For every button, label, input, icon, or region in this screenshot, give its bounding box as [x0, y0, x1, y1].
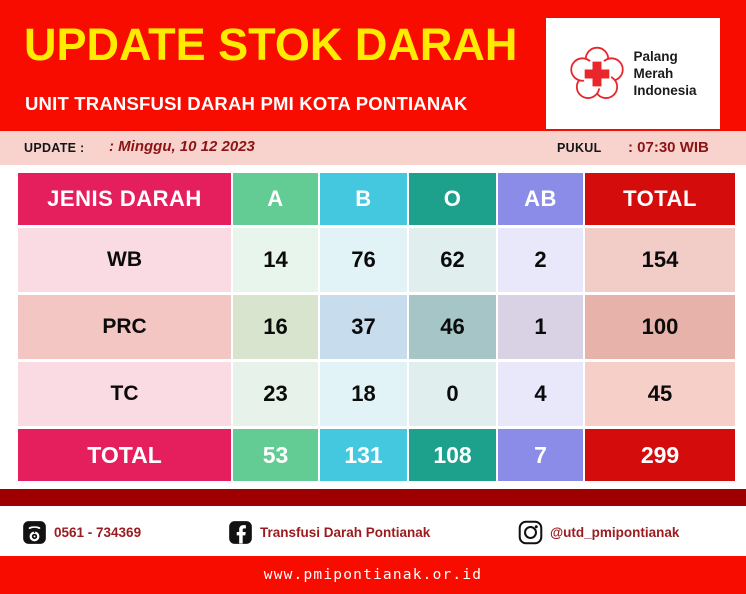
cell-prc-o: 46 — [409, 295, 496, 359]
time-value: : 07:30 WIB — [628, 139, 709, 156]
total-b: 131 — [320, 429, 407, 481]
website-url[interactable]: www.pmipontianak.or.id — [264, 567, 482, 583]
table-row: TC 23 18 0 4 45 — [18, 362, 735, 426]
contact-bar: 0561 - 734369 Transfusi Darah Pontianak … — [0, 506, 746, 556]
update-label: UPDATE : — [24, 141, 85, 155]
cell-prc-total: 100 — [585, 295, 735, 359]
cell-prc-ab: 1 — [498, 295, 583, 359]
cell-wb-b: 76 — [320, 228, 407, 292]
column-header-o: O — [409, 173, 496, 225]
total-ab: 7 — [498, 429, 583, 481]
logo-line-3: Indonesia — [633, 82, 696, 99]
instagram-icon — [518, 520, 543, 545]
website-bar: www.pmipontianak.or.id — [0, 556, 746, 594]
row-label-prc: PRC — [18, 295, 231, 359]
cell-wb-a: 14 — [233, 228, 318, 292]
telephone-icon — [22, 520, 47, 545]
table-total-row: TOTAL 53 131 108 7 299 — [18, 429, 735, 481]
cell-prc-a: 16 — [233, 295, 318, 359]
cell-tc-b: 18 — [320, 362, 407, 426]
instagram-handle: @utd_pmipontianak — [550, 525, 679, 540]
column-header-b: B — [320, 173, 407, 225]
total-row-label: TOTAL — [18, 429, 231, 481]
total-a: 53 — [233, 429, 318, 481]
blood-stock-table: JENIS DARAH A B O AB TOTAL WB 14 76 62 2… — [16, 170, 737, 484]
pmi-logo-text: Palang Merah Indonesia — [633, 48, 696, 100]
cell-prc-b: 37 — [320, 295, 407, 359]
cell-tc-total: 45 — [585, 362, 735, 426]
pmi-red-cross-flower-logo — [569, 46, 625, 102]
cell-wb-o: 62 — [409, 228, 496, 292]
row-label-wb: WB — [18, 228, 231, 292]
update-date-value: : Minggu, 10 12 2023 — [109, 138, 255, 155]
cell-tc-ab: 4 — [498, 362, 583, 426]
contact-phone[interactable]: 0561 - 734369 — [22, 520, 141, 545]
table-row: WB 14 76 62 2 154 — [18, 228, 735, 292]
page-subtitle: UNIT TRANSFUSI DARAH PMI KOTA PONTIANAK — [25, 93, 468, 115]
update-info-bar: UPDATE : : Minggu, 10 12 2023 PUKUL : 07… — [0, 131, 746, 165]
page-title: UPDATE STOK DARAH — [24, 22, 517, 67]
total-o: 108 — [409, 429, 496, 481]
table-header-row: JENIS DARAH A B O AB TOTAL — [18, 173, 735, 225]
facebook-name: Transfusi Darah Pontianak — [260, 525, 430, 540]
grand-total: 299 — [585, 429, 735, 481]
time-label: PUKUL — [557, 141, 602, 155]
cell-tc-o: 0 — [409, 362, 496, 426]
pmi-logo-box: Palang Merah Indonesia — [546, 18, 720, 129]
logo-line-2: Merah — [633, 65, 696, 82]
row-label-tc: TC — [18, 362, 231, 426]
cell-wb-total: 154 — [585, 228, 735, 292]
header-banner: UPDATE STOK DARAH UNIT TRANSFUSI DARAH P… — [0, 0, 746, 131]
phone-number: 0561 - 734369 — [54, 525, 141, 540]
footer-divider — [0, 489, 746, 506]
contact-instagram[interactable]: @utd_pmipontianak — [518, 520, 679, 545]
column-header-ab: AB — [498, 173, 583, 225]
cell-tc-a: 23 — [233, 362, 318, 426]
column-header-blood-type: JENIS DARAH — [18, 173, 231, 225]
cell-wb-ab: 2 — [498, 228, 583, 292]
contact-facebook[interactable]: Transfusi Darah Pontianak — [228, 520, 430, 545]
facebook-icon — [228, 520, 253, 545]
logo-line-1: Palang — [633, 48, 696, 65]
column-header-a: A — [233, 173, 318, 225]
column-header-total: TOTAL — [585, 173, 735, 225]
table-row: PRC 16 37 46 1 100 — [18, 295, 735, 359]
